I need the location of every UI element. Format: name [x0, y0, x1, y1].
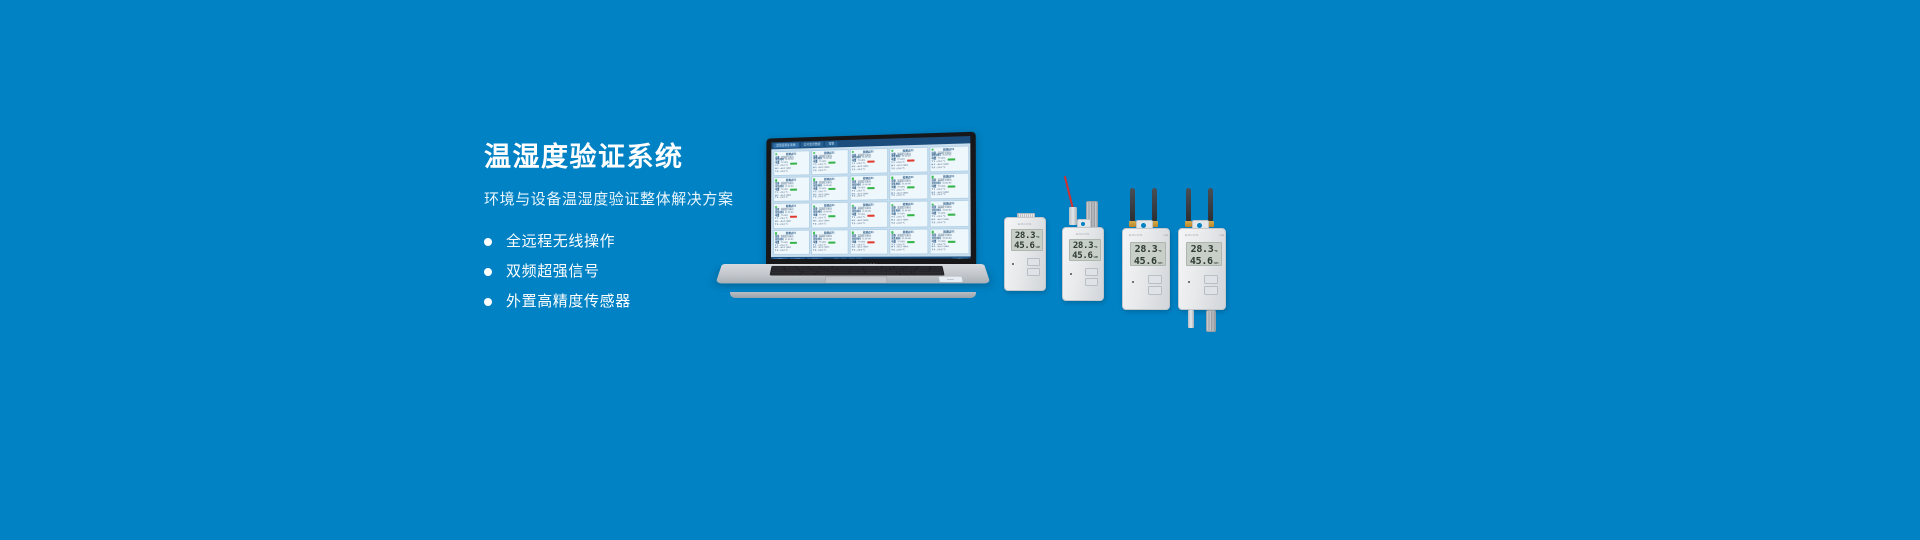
- card-field-value: +25.8 ℃: [896, 222, 905, 225]
- humidity-unit: %RH: [1214, 258, 1219, 266]
- humidity-value: 45.6: [1190, 257, 1213, 266]
- temperature-unit: ℃: [1036, 232, 1039, 242]
- device-lcd: 28.3 ℃ 45.6 %RH REC: [1069, 239, 1101, 261]
- keyboard-key[interactable]: [914, 273, 928, 274]
- card-field-key: T 2: [813, 223, 816, 226]
- button-up[interactable]: [1085, 268, 1098, 276]
- card-field-value: +25.8 ℃: [818, 170, 827, 173]
- card-field-key: T 2: [891, 195, 894, 198]
- device-brand-label: ENCON: [1063, 232, 1103, 236]
- card-field-row: T 2+25.8 ℃: [775, 250, 807, 253]
- bullet-dot-icon: [484, 268, 492, 276]
- laptop-screen: 温湿度验证系统 实时监控数据 报警 检测点01设备温湿度记录仪采集时间11:20…: [771, 136, 971, 259]
- button-up[interactable]: [1204, 275, 1218, 284]
- monitor-card[interactable]: 检测点01设备温湿度记录仪采集时间11:20:30电量77.00%T 1+25.…: [773, 203, 810, 229]
- monitor-card[interactable]: 检测点01设备温湿度记录仪采集时间11:20:30电量77.00%T 1+25.…: [773, 150, 810, 176]
- card-field-key: T 2: [891, 168, 894, 171]
- card-field-value: +25.8 ℃: [779, 197, 788, 200]
- trackpad[interactable]: [825, 276, 888, 283]
- monitor-card[interactable]: 检测点01设备温湿度记录仪采集时间11:20:30电量77.00%T 1+25.…: [773, 176, 810, 202]
- card-field-row: T 2+25.8 ℃: [891, 195, 925, 199]
- tab-realtime[interactable]: 实时监控数据: [801, 142, 824, 148]
- print-button[interactable]: 打印: [790, 258, 805, 259]
- card-field-row: T 2+25.8 ℃: [813, 223, 846, 226]
- device-recorder-external: ENCON 28.3 ℃ 45.6 %RH REC: [1062, 205, 1104, 301]
- promo-banner: 温湿度验证系统 环境与设备温湿度验证整体解决方案 全远程无线操作 双频超强信号 …: [0, 0, 1920, 540]
- monitor-card[interactable]: 检测点01设备温湿度记录仪采集时间11:20:30电量77.00%T 1+25.…: [849, 174, 887, 201]
- card-field-key: T 2: [813, 170, 816, 173]
- card-field-value: +25.8 ℃: [936, 194, 945, 197]
- card-field-key: T 2: [852, 169, 855, 172]
- page-first[interactable]: 首: [833, 258, 839, 259]
- card-field-key: T 2: [932, 195, 935, 198]
- card-field-value: +25.8 ℃: [936, 167, 945, 170]
- card-field-row: T 2+25.8 ℃: [813, 250, 846, 253]
- card-field-key: T 2: [813, 250, 816, 253]
- card-field-key: T 2: [932, 167, 935, 170]
- temperature-value: 28.3: [1191, 244, 1214, 255]
- device-lcd: 28.3 ℃ 45.6 %RH REC: [1011, 229, 1043, 251]
- device-brand-label: ENCON: [1005, 222, 1045, 226]
- button-up[interactable]: [1148, 275, 1162, 284]
- humidity-value: 45.6: [1134, 257, 1157, 266]
- antenna-left-icon: [1130, 188, 1135, 222]
- card-field-key: T 2: [852, 223, 855, 226]
- card-field-row: T 2+25.8 ℃: [775, 170, 807, 174]
- page-last[interactable]: 尾: [856, 258, 862, 259]
- device-lcd: 28.3 ℃ 45.6 %RH REC: [1130, 242, 1166, 266]
- card-field-key: T 2: [775, 250, 778, 253]
- card-field-row: T 2+25.8 ℃: [852, 168, 885, 172]
- keyboard-key[interactable]: [786, 273, 800, 274]
- card-field-row: T 2+25.8 ℃: [813, 196, 846, 200]
- device-lcd: 28.3 ℃ 45.6 %RH REC: [1186, 242, 1222, 266]
- feature-label: 外置高精度传感器: [506, 292, 631, 312]
- card-field-key: T 2: [932, 222, 935, 225]
- probe-cable: [1064, 176, 1074, 209]
- monitor-card[interactable]: 检测点01设备温湿度记录仪采集时间11:20:30电量77.00%T 1+25.…: [889, 228, 928, 255]
- feature-label: 全远程无线操作: [506, 232, 615, 252]
- monitor-card[interactable]: 检测点01设备温湿度记录仪采集时间11:20:30电量77.00%T 1+25.…: [811, 175, 849, 201]
- device-wireless-b: ENCON HE 28.3 ℃ 45.6 %RH REC: [1178, 188, 1226, 310]
- keyboard-key[interactable]: [815, 273, 899, 274]
- button-down[interactable]: [1148, 286, 1162, 295]
- card-field-value: +25.8 ℃: [936, 222, 945, 225]
- monitor-card[interactable]: 检测点01设备温湿度记录仪采集时间11:20:30电量77.00%T 1+25.…: [929, 145, 969, 172]
- bullet-dot-icon: [484, 238, 492, 246]
- card-field-value: +25.8 ℃: [856, 196, 865, 199]
- card-field-row: T 2+25.8 ℃: [932, 194, 967, 198]
- humidity-unit: %RH: [1035, 243, 1040, 251]
- monitor-card[interactable]: 检测点01设备温湿度记录仪采集时间11:20:30电量77.00%T 1+25.…: [849, 147, 887, 174]
- card-field-row: T 2+25.8 ℃: [932, 222, 967, 225]
- monitor-card[interactable]: 检测点01设备温湿度记录仪采集时间11:20:30电量77.00%T 1+25.…: [889, 146, 928, 173]
- device-recorder-internal: ENCON 28.3 ℃ 45.6 %RH REC: [1004, 217, 1046, 291]
- monitor-card[interactable]: 检测点01设备温湿度记录仪采集时间11:20:30电量77.00%T 1+25.…: [929, 228, 969, 255]
- temperature-value: 28.3: [1135, 244, 1158, 255]
- keyboard-key[interactable]: [771, 273, 785, 274]
- keyboard-key[interactable]: [900, 273, 914, 274]
- button-down[interactable]: [1204, 286, 1218, 295]
- page-1[interactable]: 1: [841, 258, 847, 259]
- card-field-key: T 2: [775, 171, 778, 174]
- keyboard[interactable]: [770, 266, 945, 276]
- monitor-card[interactable]: 检测点01设备温湿度记录仪采集时间11:20:30电量77.00%T 1+25.…: [811, 202, 849, 228]
- page-2[interactable]: 2: [848, 258, 854, 259]
- card-field-row: T 2+25.8 ℃: [891, 167, 925, 171]
- button-down[interactable]: [1085, 278, 1098, 286]
- probe-left: [1188, 310, 1194, 328]
- card-field-key: T 2: [813, 197, 816, 200]
- monitor-card[interactable]: 检测点01设备温湿度记录仪采集时间11:20:30电量77.00%T 1+25.…: [889, 173, 928, 200]
- cpu-sticker: intel: [939, 277, 963, 282]
- laptop-base: intel: [722, 264, 984, 302]
- card-field-row: T 2+25.8 ℃: [775, 197, 807, 200]
- card-field-value: +25.8 ℃: [896, 195, 905, 198]
- card-field-key: T 2: [775, 224, 778, 227]
- device-body: ENCON 28.3 ℃ 45.6 %RH REC: [1004, 217, 1046, 291]
- card-field-value: +25.8 ℃: [817, 223, 826, 226]
- button-up[interactable]: [1027, 258, 1040, 266]
- card-field-value: +25.8 ℃: [817, 250, 826, 253]
- device-model-label: HE: [1179, 233, 1232, 237]
- antenna-left-base: [1185, 221, 1192, 227]
- monitor-card[interactable]: 检测点01设备温湿度记录仪采集时间11:20:30电量77.00%T 1+25.…: [849, 229, 887, 255]
- card-field-value: +25.8 ℃: [856, 169, 865, 172]
- card-field-key: T 2: [852, 196, 855, 199]
- card-field-row: T 2+25.8 ℃: [891, 250, 925, 253]
- device-body: ENCON 28.3 ℃ 45.6 %RH REC: [1062, 227, 1104, 301]
- device-wireless-a: ENCON HE 28.3 ℃ 45.6 %RH REC: [1122, 188, 1170, 310]
- pagination: 首 1 2 尾: [833, 258, 862, 259]
- bullet-dot-icon: [484, 298, 492, 306]
- antenna-left-base: [1129, 221, 1136, 227]
- humidity-value: 45.6: [1072, 252, 1092, 261]
- monitor-card[interactable]: 检测点01设备温湿度记录仪采集时间11:20:30电量77.00%T 1+25.…: [929, 173, 969, 200]
- feature-label: 双频超强信号: [506, 262, 600, 282]
- card-field-row: T 2+25.8 ℃: [852, 223, 885, 226]
- monitor-card[interactable]: 检测点01设备温湿度记录仪采集时间11:20:30电量77.00%T 1+25.…: [929, 200, 969, 227]
- temperature-unit: ℃: [1094, 242, 1097, 252]
- card-field-row: T 2+25.8 ℃: [852, 250, 885, 253]
- keyboard-key[interactable]: [929, 273, 943, 274]
- app-toolbar: 刷新 打印 导出 首 1 2 尾 退出: [771, 256, 971, 259]
- card-field-row: T 2+25.8 ℃: [775, 224, 807, 227]
- card-field-value: +25.8 ℃: [856, 250, 865, 253]
- antenna-right-icon: [1208, 188, 1213, 222]
- status-led-icon: [1012, 263, 1014, 265]
- card-field-key: T 2: [891, 250, 894, 253]
- card-field-key: T 2: [775, 197, 778, 200]
- card-field-key: T 2: [891, 223, 894, 226]
- temperature-value: 28.3: [1073, 241, 1093, 251]
- monitor-card[interactable]: 检测点01设备温湿度记录仪采集时间11:20:30电量77.00%T 1+25.…: [810, 229, 848, 255]
- keyboard-key[interactable]: [800, 273, 814, 274]
- device-buttons[interactable]: [1085, 268, 1098, 286]
- card-field-value: +25.8 ℃: [936, 250, 945, 253]
- tab-alarm[interactable]: 报警: [826, 141, 838, 146]
- card-field-row: T 2+25.8 ℃: [932, 249, 967, 252]
- status-led-icon: [1070, 273, 1072, 275]
- antenna-left-icon: [1186, 188, 1191, 222]
- card-field-row: T 2+25.8 ℃: [932, 166, 967, 170]
- device-buttons[interactable]: [1027, 258, 1040, 276]
- device-buttons[interactable]: [1148, 275, 1162, 295]
- card-field-value: +25.8 ℃: [896, 168, 905, 171]
- temperature-unit: ℃: [1158, 246, 1161, 257]
- status-led-icon: [1188, 281, 1190, 283]
- exit-button[interactable]: 退出: [952, 257, 969, 259]
- device-body: ENCON HE 28.3 ℃ 45.6 %RH REC: [1178, 228, 1226, 310]
- card-field-value: +25.8 ℃: [779, 250, 788, 253]
- laptop-front-edge: [730, 292, 976, 298]
- monitor-card[interactable]: 检测点01设备温湿度记录仪采集时间11:20:30电量77.00%T 1+25.…: [811, 149, 849, 176]
- monitor-card[interactable]: 检测点01设备温湿度记录仪采集时间11:20:30电量77.00%T 1+25.…: [889, 201, 928, 228]
- device-group: ENCON 28.3 ℃ 45.6 %RH REC: [1000, 185, 1220, 315]
- keyboard-row: [771, 273, 944, 274]
- card-field-value: +25.8 ℃: [896, 250, 905, 253]
- antenna-right-icon: [1152, 188, 1157, 222]
- humidity-value: 45.6: [1014, 242, 1034, 251]
- refresh-button[interactable]: 刷新: [773, 258, 788, 259]
- temperature-value: 28.3: [1015, 231, 1035, 241]
- humidity-unit: %RH: [1093, 253, 1098, 261]
- probe-right: [1206, 310, 1216, 332]
- laptop-illustration: 温湿度验证系统 实时监控数据 报警 检测点01设备温湿度记录仪采集时间11:20…: [722, 138, 984, 298]
- card-field-key: T 2: [852, 250, 855, 253]
- tab-system[interactable]: 温湿度验证系统: [773, 143, 798, 149]
- laptop-lid: 温湿度验证系统 实时监控数据 报警 检测点01设备温湿度记录仪采集时间11:20…: [766, 132, 976, 268]
- card-field-value: +25.8 ℃: [779, 224, 788, 227]
- temperature-unit: ℃: [1214, 246, 1217, 257]
- card-field-row: T 2+25.8 ℃: [813, 169, 846, 173]
- monitor-card[interactable]: 检测点01设备温湿度记录仪采集时间11:20:30电量77.00%T 1+25.…: [772, 229, 809, 255]
- export-button[interactable]: 导出: [807, 258, 822, 259]
- card-field-value: +25.8 ℃: [856, 223, 865, 226]
- device-buttons[interactable]: [1204, 275, 1218, 295]
- card-field-value: +25.8 ℃: [780, 171, 789, 174]
- humidity-unit: %RH: [1158, 258, 1163, 266]
- laptop-deck: intel: [715, 264, 990, 283]
- card-field-row: T 2+25.8 ℃: [852, 196, 885, 200]
- card-field-key: T 2: [932, 250, 935, 253]
- button-down[interactable]: [1027, 268, 1040, 276]
- hanger-hole: [1081, 222, 1085, 226]
- monitor-card-grid: 检测点01设备温湿度记录仪采集时间11:20:30电量77.00%T 1+25.…: [771, 143, 971, 256]
- card-field-row: T 2+25.8 ℃: [891, 222, 925, 225]
- status-led-icon: [1132, 281, 1134, 283]
- monitor-card[interactable]: 检测点01设备温湿度记录仪采集时间11:20:30电量77.00%T 1+25.…: [849, 202, 887, 229]
- card-field-value: +25.8 ℃: [817, 197, 826, 200]
- probe-connector-left: [1069, 207, 1077, 225]
- device-body: ENCON HE 28.3 ℃ 45.6 %RH REC: [1122, 228, 1170, 310]
- device-model-label: HE: [1123, 233, 1176, 237]
